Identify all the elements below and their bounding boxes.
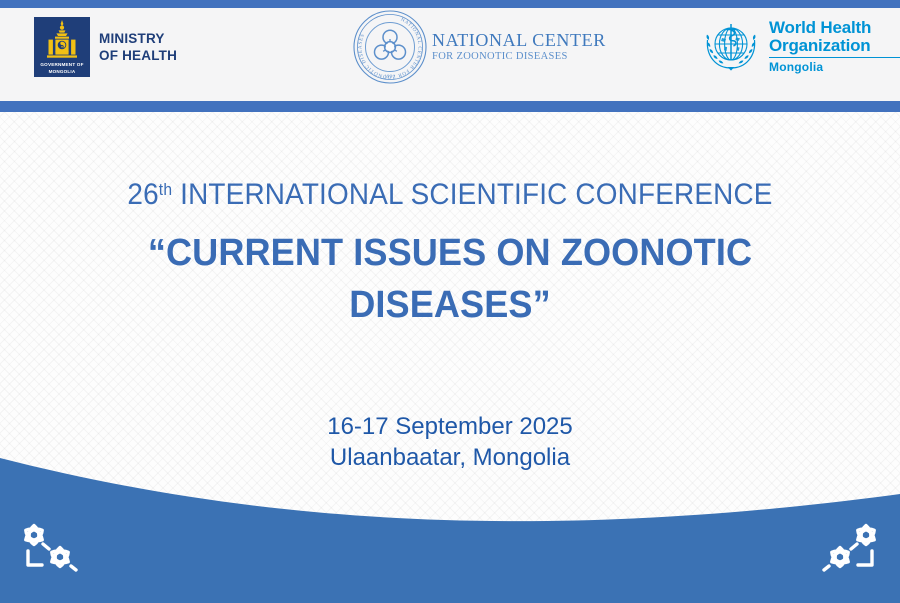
conference-theme: “CURRENT ISSUES ON ZOONOTIC DISEASES” — [23, 227, 878, 331]
logo-who-mongolia: World Health Organization Mongolia — [700, 0, 900, 93]
conference-heading: 26th INTERNATIONAL SCIENTIFIC CONFERENCE — [32, 175, 869, 219]
who-rule — [769, 57, 900, 59]
header-divider-bar — [0, 101, 900, 112]
who-line1: World Health — [769, 19, 900, 37]
event-date: 16-17 September 2025 — [0, 411, 900, 442]
ncz-line1: NATIONAL CENTER — [432, 31, 606, 50]
ministry-line2: OF HEALTH — [99, 47, 177, 64]
footer-wave-band — [0, 453, 900, 603]
ministry-of-health-text: MINISTRY OF HEALTH — [99, 30, 177, 64]
mongolian-ulzii-knot-icon — [16, 517, 86, 579]
conference-theme-line1: “CURRENT ISSUES ON ZOONOTIC — [23, 227, 878, 279]
biohazard-seal-icon: NATIONAL CENTER FOR ZOONOTIC DISEASES — [352, 9, 428, 85]
conference-title-slide: GOVERNMENT OF MONGOLIA MINISTRY OF HEALT… — [0, 0, 900, 603]
soyombo-emblem-icon: GOVERNMENT OF MONGOLIA — [34, 17, 90, 77]
conference-heading-text: INTERNATIONAL SCIENTIFIC CONFERENCE — [172, 178, 772, 211]
conference-theme-line2: DISEASES” — [23, 279, 878, 331]
mongolian-ulzii-knot-icon — [814, 517, 884, 579]
emblem-caption-line2: MONGOLIA — [49, 69, 76, 75]
ncz-line2: FOR ZOONOTIC DISEASES — [432, 50, 606, 63]
conference-ordinal-suffix: th — [159, 180, 172, 199]
conference-number: 26 — [127, 178, 158, 211]
who-emblem-icon — [700, 16, 762, 78]
who-line2: Organization — [769, 37, 900, 55]
seal-year: 1931 — [384, 73, 396, 78]
who-country: Mongolia — [769, 60, 900, 74]
logo-national-center-zoonotic-diseases: NATIONAL CENTER FOR ZOONOTIC DISEASES — [352, 0, 606, 93]
ministry-line1: MINISTRY — [99, 30, 177, 47]
emblem-caption-line1: GOVERNMENT OF — [40, 62, 83, 68]
title-block: 26th INTERNATIONAL SCIENTIFIC CONFERENCE… — [0, 175, 900, 331]
logo-ministry-of-health: GOVERNMENT OF MONGOLIA MINISTRY OF HEALT… — [34, 0, 177, 93]
